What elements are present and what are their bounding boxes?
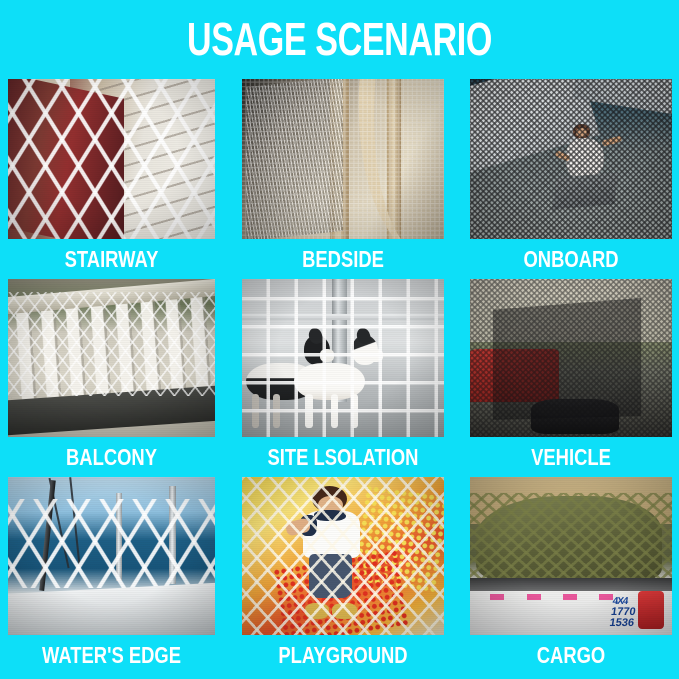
- scenario-card-vehicle: VEHICLE: [470, 279, 672, 477]
- photo-vignette: [8, 477, 215, 635]
- scenario-image-onboard: [470, 79, 672, 239]
- photo-vignette: [242, 279, 444, 437]
- scenario-label-playground: PLAYGROUND: [262, 635, 424, 675]
- photo-vignette: [242, 79, 444, 239]
- scenario-card-waters-edge: WATER'S EDGE: [8, 477, 215, 675]
- scenario-image-playground: [242, 477, 444, 635]
- photo-vignette: [242, 477, 444, 635]
- page-title: USAGE SCENARIO: [88, 14, 590, 64]
- scenario-label-balcony: BALCONY: [29, 437, 195, 477]
- scenario-image-waters-edge: [8, 477, 215, 635]
- scenario-card-site-isolation: SITE LSOLATION: [242, 279, 444, 477]
- scenario-image-cargo: 4X4 1770 1536: [470, 477, 672, 635]
- photo-vignette: [8, 279, 215, 437]
- photo-vignette: [470, 477, 672, 635]
- scenario-label-bedside: BEDSIDE: [262, 239, 424, 279]
- scenario-card-balcony: BALCONY: [8, 279, 215, 477]
- scenario-label-onboard: ONBOARD: [490, 239, 652, 279]
- scenario-label-waters-edge: WATER'S EDGE: [29, 635, 195, 675]
- scenario-card-bedside: BEDSIDE: [242, 79, 444, 279]
- scenario-image-vehicle: [470, 279, 672, 437]
- photo-vignette: [470, 79, 672, 239]
- scenario-image-site-isolation: [242, 279, 444, 437]
- scenario-card-playground: PLAYGROUND: [242, 477, 444, 675]
- scenario-label-vehicle: VEHICLE: [490, 437, 652, 477]
- scenario-label-stairway: STAIRWAY: [29, 239, 195, 279]
- photo-vignette: [470, 279, 672, 437]
- scenario-grid: STAIRWAY BEDSIDE: [8, 79, 672, 675]
- scenario-image-balcony: [8, 279, 215, 437]
- scenario-label-site-isolation: SITE LSOLATION: [262, 437, 424, 477]
- scenario-card-cargo: 4X4 1770 1536 CARGO: [470, 477, 672, 675]
- scenario-image-bedside: [242, 79, 444, 239]
- photo-vignette: [8, 79, 215, 239]
- scenario-label-cargo: CARGO: [490, 635, 652, 675]
- scenario-image-stairway: [8, 79, 215, 239]
- usage-scenario-infographic: USAGE SCENARIO STAIRWAY: [0, 0, 679, 679]
- scenario-card-stairway: STAIRWAY: [8, 79, 215, 279]
- scenario-card-onboard: ONBOARD: [470, 79, 672, 279]
